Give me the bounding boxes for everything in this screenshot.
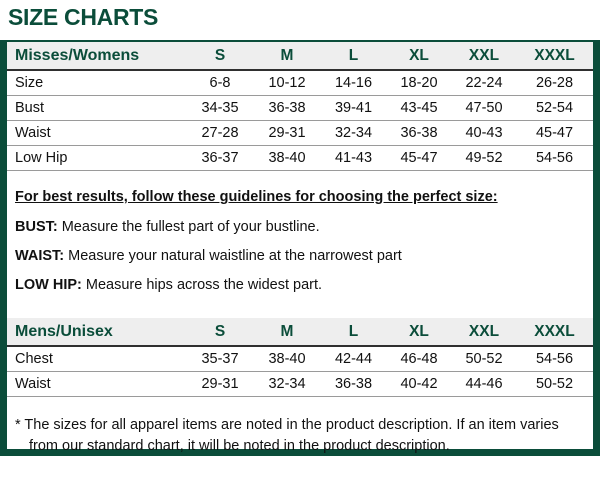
womens-waist-m: 29-31 <box>253 121 321 146</box>
guideline-bust-label: BUST: <box>15 219 58 235</box>
table-row: Chest 35-37 38-40 42-44 46-48 50-52 54-5… <box>7 346 593 372</box>
womens-row-label-size: Size <box>7 70 187 96</box>
womens-col-header-s: S <box>187 42 253 70</box>
guideline-low-hip-text: Measure hips across the widest part. <box>82 277 322 293</box>
section-spacer <box>7 300 593 318</box>
mens-chest-m: 38-40 <box>253 346 321 372</box>
womens-waist-xxxl: 45-47 <box>516 121 593 146</box>
size-chart-card-inner: Misses/Womens S M L XL XXL XXXL Size 6-8… <box>7 42 593 449</box>
womens-size-xxl: 22-24 <box>452 70 516 96</box>
mens-chest-xl: 46-48 <box>386 346 452 372</box>
womens-waist-xxl: 40-43 <box>452 121 516 146</box>
table-row: Low Hip 36-37 38-40 41-43 45-47 49-52 54… <box>7 146 593 171</box>
mens-col-header-l: L <box>321 318 386 346</box>
womens-bust-l: 39-41 <box>321 96 386 121</box>
mens-col-header-xxxl: XXXL <box>516 318 593 346</box>
mens-table-header-row: Mens/Unisex S M L XL XXL XXXL <box>7 318 593 346</box>
womens-low-hip-s: 36-37 <box>187 146 253 171</box>
womens-bust-xxxl: 52-54 <box>516 96 593 121</box>
table-row: Waist 27-28 29-31 32-34 36-38 40-43 45-4… <box>7 121 593 146</box>
guideline-bust: BUST: Measure the fullest part of your b… <box>15 219 585 236</box>
mens-row-label-waist: Waist <box>7 372 187 397</box>
table-row: Bust 34-35 36-38 39-41 43-45 47-50 52-54 <box>7 96 593 121</box>
womens-size-table: Misses/Womens S M L XL XXL XXXL Size 6-8… <box>7 42 593 171</box>
mens-col-header-xxl: XXL <box>452 318 516 346</box>
guideline-bust-text: Measure the fullest part of your bustlin… <box>58 219 320 235</box>
womens-low-hip-xxxl: 54-56 <box>516 146 593 171</box>
mens-size-table: Mens/Unisex S M L XL XXL XXXL Chest 35-3… <box>7 318 593 397</box>
guideline-low-hip-label: LOW HIP: <box>15 277 82 293</box>
womens-bust-xl: 43-45 <box>386 96 452 121</box>
guidelines-section: For best results, follow these guideline… <box>7 171 593 300</box>
womens-size-s: 6-8 <box>187 70 253 96</box>
womens-waist-xl: 36-38 <box>386 121 452 146</box>
guideline-waist: WAIST: Measure your natural waistline at… <box>15 248 585 265</box>
mens-waist-s: 29-31 <box>187 372 253 397</box>
guidelines-heading: For best results, follow these guideline… <box>15 189 585 206</box>
mens-chest-s: 35-37 <box>187 346 253 372</box>
womens-col-header-xxl: XXL <box>452 42 516 70</box>
mens-table-label-header: Mens/Unisex <box>7 318 187 346</box>
guideline-waist-text: Measure your natural waistline at the na… <box>64 248 402 264</box>
mens-chest-xxl: 50-52 <box>452 346 516 372</box>
womens-col-header-xl: XL <box>386 42 452 70</box>
mens-waist-m: 32-34 <box>253 372 321 397</box>
womens-table-header-row: Misses/Womens S M L XL XXL XXXL <box>7 42 593 70</box>
mens-chest-xxxl: 54-56 <box>516 346 593 372</box>
mens-waist-l: 36-38 <box>321 372 386 397</box>
table-row: Waist 29-31 32-34 36-38 40-42 44-46 50-5… <box>7 372 593 397</box>
mens-chest-l: 42-44 <box>321 346 386 372</box>
womens-low-hip-m: 38-40 <box>253 146 321 171</box>
womens-row-label-low-hip: Low Hip <box>7 146 187 171</box>
mens-col-header-xl: XL <box>386 318 452 346</box>
womens-col-header-xxxl: XXXL <box>516 42 593 70</box>
womens-bust-m: 36-38 <box>253 96 321 121</box>
womens-bust-s: 34-35 <box>187 96 253 121</box>
womens-row-label-waist: Waist <box>7 121 187 146</box>
mens-col-header-s: S <box>187 318 253 346</box>
table-row: Size 6-8 10-12 14-16 18-20 22-24 26-28 <box>7 70 593 96</box>
womens-size-xl: 18-20 <box>386 70 452 96</box>
womens-size-m: 10-12 <box>253 70 321 96</box>
womens-waist-s: 27-28 <box>187 121 253 146</box>
guideline-low-hip: LOW HIP: Measure hips across the widest … <box>15 277 585 294</box>
footnote-section: * The sizes for all apparel items are no… <box>7 397 593 457</box>
womens-size-l: 14-16 <box>321 70 386 96</box>
womens-waist-l: 32-34 <box>321 121 386 146</box>
womens-col-header-l: L <box>321 42 386 70</box>
size-chart-card: Misses/Womens S M L XL XXL XXXL Size 6-8… <box>0 40 600 456</box>
womens-table-label-header: Misses/Womens <box>7 42 187 70</box>
womens-low-hip-l: 41-43 <box>321 146 386 171</box>
mens-col-header-m: M <box>253 318 321 346</box>
womens-row-label-bust: Bust <box>7 96 187 121</box>
mens-row-label-chest: Chest <box>7 346 187 372</box>
size-chart-page: SIZE CHARTS Misses/Womens S M L XL XXL <box>0 0 600 487</box>
womens-col-header-m: M <box>253 42 321 70</box>
womens-low-hip-xl: 45-47 <box>386 146 452 171</box>
womens-bust-xxl: 47-50 <box>452 96 516 121</box>
guideline-waist-label: WAIST: <box>15 248 64 264</box>
footnote-text: * The sizes for all apparel items are no… <box>15 415 581 457</box>
page-title: SIZE CHARTS <box>8 2 158 32</box>
womens-low-hip-xxl: 49-52 <box>452 146 516 171</box>
womens-size-xxxl: 26-28 <box>516 70 593 96</box>
mens-waist-xxl: 44-46 <box>452 372 516 397</box>
mens-waist-xl: 40-42 <box>386 372 452 397</box>
mens-waist-xxxl: 50-52 <box>516 372 593 397</box>
